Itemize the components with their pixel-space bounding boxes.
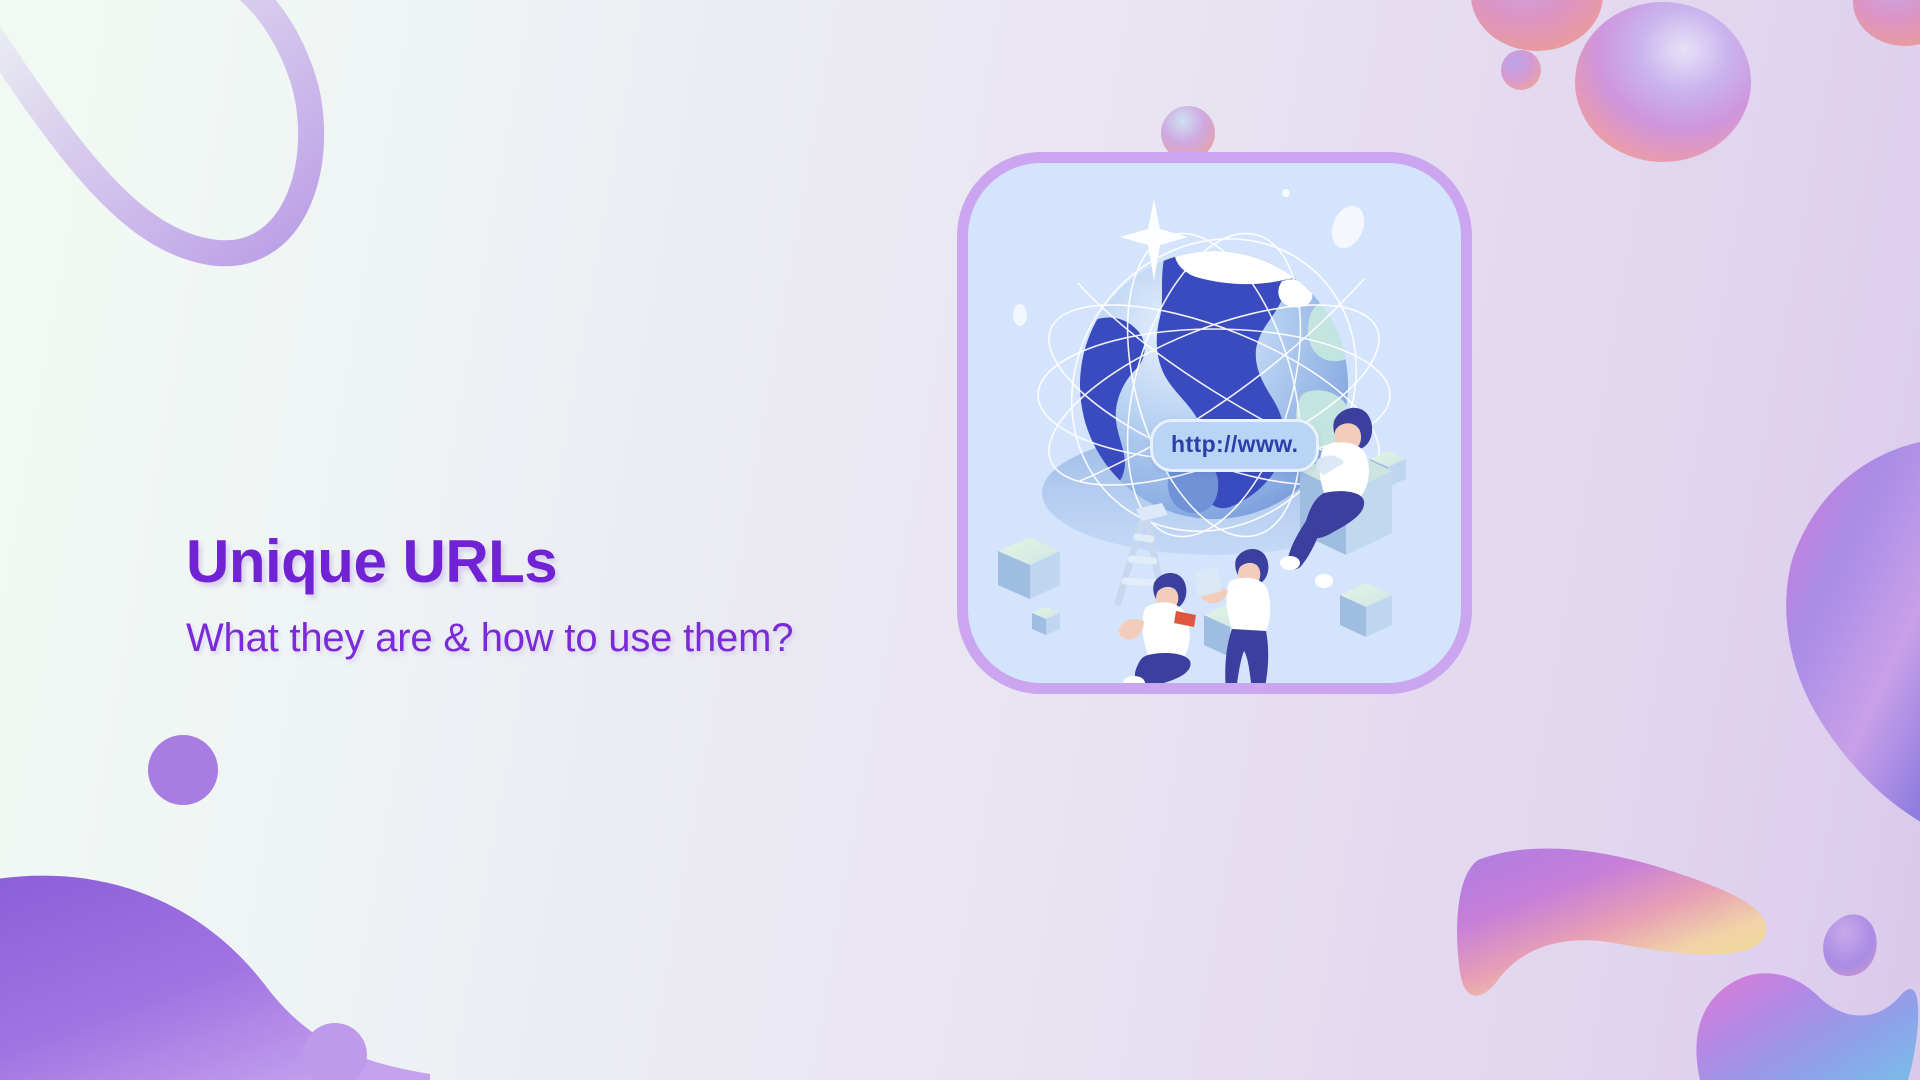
sphere-tiny bbox=[1501, 50, 1541, 90]
globe-illustration: http://www. bbox=[968, 163, 1461, 683]
blob-droplet bbox=[1823, 914, 1877, 976]
page-subtitle: What they are & how to use them? bbox=[186, 615, 986, 661]
sparkle-oval bbox=[1326, 201, 1370, 253]
blob-bottom-right-top bbox=[1457, 849, 1766, 996]
sphere-large bbox=[1575, 2, 1751, 162]
blob-right-middle bbox=[1786, 440, 1920, 830]
swoosh-arc bbox=[0, 0, 311, 253]
circle-accent-small bbox=[303, 1023, 367, 1080]
banner-text-block: Unique URLs What they are & how to use t… bbox=[186, 530, 986, 661]
cube-left bbox=[998, 537, 1060, 599]
illustration-card: http://www. bbox=[957, 152, 1472, 694]
sparkle-dot bbox=[1282, 189, 1290, 197]
sphere-edge bbox=[1853, 0, 1920, 46]
sparkle-oval-small bbox=[1013, 304, 1027, 326]
cube-right bbox=[1340, 583, 1392, 637]
circle-accent-large bbox=[148, 735, 218, 805]
url-badge: http://www. bbox=[1150, 419, 1319, 472]
page-title: Unique URLs bbox=[186, 530, 986, 593]
person-seated-ground bbox=[1119, 573, 1196, 683]
cube-small-floating bbox=[1032, 607, 1060, 635]
blob-bottom-right-bottom bbox=[1696, 973, 1918, 1080]
sphere-upper bbox=[1471, 0, 1603, 51]
